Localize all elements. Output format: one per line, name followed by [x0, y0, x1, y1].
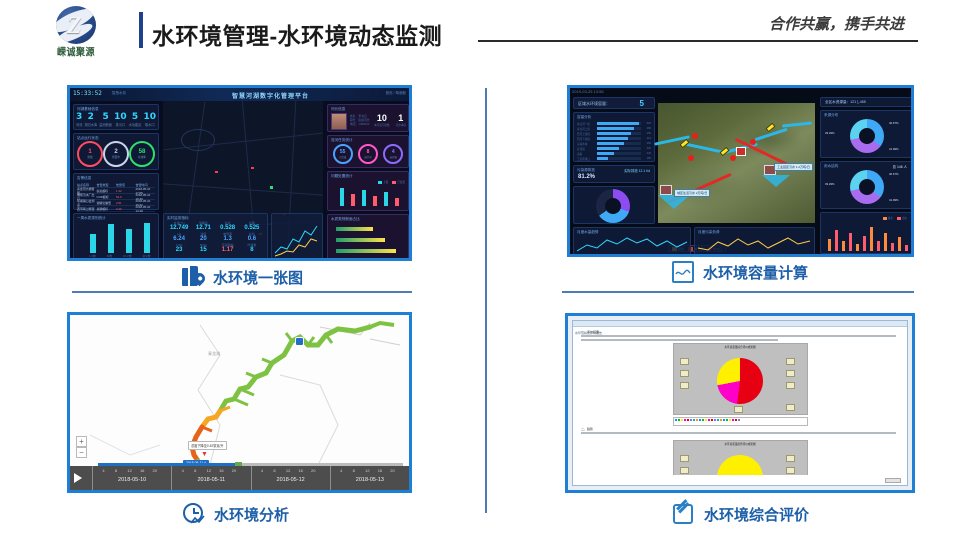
alarm-table[interactable]: 站点名称告警类型告警值告警时间青龙河大桥断面氨氮超标1.322018-05-10… — [77, 182, 155, 212]
indicator-value: 0.528 — [216, 225, 240, 231]
capacity-bar-fill — [597, 147, 619, 150]
bar-item — [849, 233, 852, 251]
dashboard-banner-title: 智慧河湖数字化管理平台 — [232, 91, 309, 100]
timeline-tick: 4 — [102, 468, 104, 473]
kpi-label: 监测断面 — [99, 122, 112, 127]
capacity-list-title: 容量分析 — [577, 115, 591, 120]
dashboard-clock: 15:33:52 — [73, 90, 102, 97]
report-text-line — [581, 335, 896, 337]
report-chart-box: 水环境质量综合评价成果图 — [673, 343, 808, 415]
indicator-value: 6.24 — [167, 236, 191, 242]
timeline-tick: 20 — [232, 468, 236, 473]
report-pie-chart — [717, 455, 763, 475]
report-chart-leader-label — [786, 455, 795, 462]
timeline-segment[interactable]: 481216202018-05-11 — [171, 466, 250, 490]
table-cell: 52.6 — [116, 195, 136, 199]
monthly-bar-panel: 进水出水 — [820, 212, 912, 254]
river-chief-stats: 10本月巡河次数1待办事项 — [374, 113, 406, 127]
table-row[interactable]: 西河闸上断面总磷超标0.462018-05-10 14:18 — [77, 206, 155, 212]
legend-swatch — [717, 419, 719, 421]
legend-swatch — [378, 181, 382, 184]
timeline-ticks: 48121620 — [331, 466, 409, 476]
gauge-row: 1离线2预警中58在线率 — [77, 141, 155, 167]
legend-label: 上报 — [383, 180, 388, 184]
legend-swatch — [723, 419, 725, 421]
indicator-value: 15 — [191, 247, 215, 253]
indicator-panel: 实时监测指标 水温(℃)12.749溶解氧12.71氨氮0.528总磷0.525… — [163, 213, 268, 261]
zoom-in-button[interactable]: + — [76, 436, 87, 447]
kpi-label: 取水口 — [143, 122, 156, 127]
indicator-item: 溶解氧12.71 — [191, 221, 215, 231]
legend-swatch — [708, 419, 710, 421]
donut-slice-label: 33.29% — [825, 131, 835, 135]
discharge-value: 实际排放 12.1 t/d — [624, 168, 650, 173]
caption-label: 水环境一张图 — [213, 267, 303, 288]
legend-swatch — [705, 419, 707, 421]
tooltip-pointer-icon: ▼ — [201, 451, 208, 458]
timeline-tick: 8 — [194, 468, 196, 473]
legend-swatch — [684, 419, 686, 421]
capacity-bar-track — [597, 132, 641, 135]
timeline-segment[interactable]: 481216202018-05-12 — [251, 466, 330, 490]
monitoring-station-marker[interactable] — [295, 337, 304, 346]
logo-company-name: 嵘诚聚源 — [57, 44, 95, 59]
timeline-date-label: 2018-05-10 — [93, 477, 171, 483]
timeline-tick: 4 — [261, 468, 263, 473]
indicator-value: 12.749 — [167, 225, 191, 231]
capacity-item-value: 360 — [643, 142, 651, 145]
usage-donut-badge: 总 146 人 — [893, 164, 907, 169]
ring-item: 4未开始 — [383, 144, 403, 164]
table-cell: 2.81 — [116, 201, 136, 205]
report-chart-title: 水环境质量趋势评价成果图 — [674, 442, 807, 446]
title-rule — [478, 40, 918, 42]
kpi-row: 3河流2湖泊水库5监测断面10排污口5水功能区10取水口 — [76, 112, 156, 127]
bar-item — [905, 245, 908, 251]
header-slogan: 合作共赢，携手共进 — [769, 13, 904, 34]
timeline-bar[interactable]: 481216202018-05-10481216202018-05-114812… — [70, 466, 409, 490]
indicator-item: 水温(℃)12.749 — [167, 221, 191, 231]
horizontal-bar-chart — [336, 227, 404, 260]
monthly-bar-legend: 进水出水 — [883, 216, 907, 220]
alarm-panel-title: 告警信息 — [77, 176, 91, 181]
report-chart-leader-label — [786, 358, 795, 365]
capacity-item-value: 180 — [643, 157, 651, 160]
source-donut-title: 来源分布 — [824, 113, 838, 118]
legend-item: 出水 — [897, 216, 907, 220]
usage-donut-title: 用水结构 — [824, 164, 838, 169]
indicator-item: 氨氮0.528 — [216, 221, 240, 231]
profile-line: 电话：1380000 — [350, 122, 370, 126]
legend-swatch — [720, 419, 722, 421]
indicator-item: COD23 — [167, 243, 191, 253]
capacity-list[interactable]: 青龙河一段520青龙河二段480西河上游段450西河下游段410东湖水域360北… — [577, 121, 651, 161]
bar-item — [898, 237, 901, 251]
screenshot-one-map-dashboard[interactable]: 15:33:52 智慧水务 智慧河湖数字化管理平台 首页 / 驾驶舱 河湖基础信… — [67, 85, 412, 261]
kpi-value: 10 — [114, 112, 127, 122]
gauge-panel: 站点运行状态 1离线2预警中58在线率 — [73, 133, 159, 170]
kpi-item: 10排污口 — [114, 112, 127, 127]
capacity-item-label: 南渠 — [577, 152, 595, 156]
map-callout-industry: 工业园区污水 1.2万吨/日 — [774, 163, 813, 171]
report-window: 水环境综合评价报告 一、评价结果水环境质量综合评价成果图二、趋势水环境质量趋势评… — [572, 320, 908, 486]
indicator-item: BOD15 — [191, 243, 215, 253]
monthly-bar-chart — [825, 227, 909, 251]
legend-swatch — [690, 419, 692, 421]
report-chart-title: 水环境质量综合评价成果图 — [674, 345, 807, 349]
report-body[interactable]: 一、评价结果水环境质量综合评价成果图二、趋势水环境质量趋势评价成果图 — [581, 329, 899, 475]
capacity-top-date: 2019-03-25 13:56 — [572, 89, 604, 94]
gauge-label: 在线率 — [138, 155, 146, 159]
dashboard-top-label: 智慧水务 — [112, 91, 126, 96]
timeline-tick: 16 — [298, 468, 302, 473]
legend-swatch — [699, 419, 701, 421]
capacity-bar-track — [597, 152, 641, 155]
dashboard-top-right: 首页 / 驾驶舱 — [386, 91, 406, 96]
profile-stat-label: 本月巡河次数 — [374, 123, 390, 127]
logo-letter: Z — [67, 13, 82, 40]
table-cell: 0.46 — [116, 207, 136, 211]
table-cell: 氨氮超标 — [97, 189, 117, 193]
bar-item — [828, 239, 831, 251]
timeline-tick: 16 — [219, 468, 223, 473]
capacity-list-item[interactable]: 工业区排口180 — [577, 156, 651, 161]
legend-swatch — [696, 419, 698, 421]
capacity-bar-track — [597, 127, 641, 130]
table-cell: COD超标 — [97, 195, 117, 199]
caption-analysis[interactable]: 水环境分析 — [183, 503, 289, 525]
table-cell: 东湖湖心监测点 — [77, 199, 97, 207]
alarm-panel[interactable]: 告警信息 站点名称告警类型告警值告警时间青龙河大桥断面氨氮超标1.322018-… — [73, 173, 159, 210]
indicator-value: 12.71 — [191, 225, 215, 231]
capacity-donut-panel — [573, 186, 655, 224]
legend-swatch — [681, 419, 683, 421]
bar-item — [891, 243, 894, 251]
table-cell: 总磷超标 — [97, 207, 117, 211]
hbar-title: 水质类别断面占比 — [331, 217, 360, 222]
legend-swatch — [883, 217, 887, 220]
capacity-bar-track — [597, 147, 641, 150]
pencil-box-icon — [673, 503, 695, 525]
screenshot-evaluation-report[interactable]: 水环境综合评价报告 一、评价结果水环境质量综合评价成果图二、趋势水环境质量趋势评… — [565, 313, 915, 493]
legend-swatch — [678, 419, 680, 421]
discharge-title: 污染源排放 — [577, 168, 595, 173]
report-text-line — [581, 432, 896, 434]
indicator-value: 0.6 — [240, 236, 264, 242]
timeline-ticks: 48121620 — [172, 466, 250, 476]
donut-slice-label: 40.67% — [889, 121, 899, 125]
report-chart-leader-label — [786, 382, 795, 389]
bar-item — [856, 244, 859, 251]
bar-item — [362, 190, 366, 206]
patrol-ring-card: 巡河任务统计 55已完成8进行中4未开始 — [327, 135, 409, 168]
donut-slice-label: 33.29% — [825, 182, 835, 186]
report-pie-chart — [717, 358, 763, 404]
title-accent-bar — [139, 12, 143, 48]
bar-item — [835, 230, 838, 251]
issue-bar-chart — [336, 188, 404, 206]
kpi-value: 2 — [84, 112, 97, 122]
report-chart-leader-label — [680, 370, 689, 377]
profile-stat-value: 1 — [396, 113, 406, 123]
timeline-tick: 20 — [311, 468, 315, 473]
timeline-tick: 16 — [140, 468, 144, 473]
timeline-segment[interactable]: 481216202018-05-13 — [330, 466, 409, 490]
trend-chart-right-title: 月度污染负荷 — [698, 230, 720, 235]
kpi-value: 3 — [76, 112, 82, 122]
timeline-ticks: 48121620 — [252, 466, 330, 476]
report-chart-leader-label — [786, 404, 795, 411]
weekly-bar-labels: I-II类III类IV-V类劣V类 — [84, 254, 156, 258]
ring-item: 55已完成 — [333, 144, 353, 164]
divider-horizontal-right — [562, 291, 914, 293]
trend-mini-panel — [271, 213, 323, 261]
legend-swatch — [897, 217, 901, 220]
bar-item — [884, 233, 887, 251]
table-cell: 2018-05-10 14:18 — [136, 205, 156, 213]
patrol-ring-row: 55已完成8进行中4未开始 — [330, 144, 406, 164]
kpi-label: 河流 — [76, 122, 82, 127]
caption-label: 水环境分析 — [214, 504, 289, 525]
capacity-bar-fill — [597, 157, 608, 160]
capacity-item-value: 520 — [643, 122, 651, 125]
kpi-label: 湖泊水库 — [84, 122, 97, 127]
capacity-headline-label: 区域水环境容量： — [578, 101, 610, 107]
bar-item — [126, 229, 132, 253]
capacity-bar-track — [597, 142, 641, 145]
capacity-item-value: 240 — [643, 152, 651, 155]
timeline-tick: 12 — [365, 468, 369, 473]
usage-donut-chart — [850, 170, 884, 204]
report-chart-leader-label — [786, 467, 795, 474]
timeline-tick: 8 — [115, 468, 117, 473]
profile-stat-value: 10 — [374, 113, 390, 123]
gauge-item: 1离线 — [77, 141, 103, 167]
caption-evaluation[interactable]: 水环境综合评价 — [673, 503, 809, 525]
timeline-date-label: 2018-05-12 — [252, 477, 330, 483]
kpi-item: 2湖泊水库 — [84, 112, 97, 127]
legend-item: 进水 — [883, 216, 893, 220]
capacity-item-value: 450 — [643, 132, 651, 135]
capacity-list-panel[interactable]: 容量分析 青龙河一段520青龙河二段480西河上游段450西河下游段410东湖水… — [573, 112, 655, 162]
timeline-tick: 8 — [353, 468, 355, 473]
timeline-segment[interactable]: 481216202018-05-10 — [92, 466, 171, 490]
capacity-item-label: 青龙河一段 — [577, 122, 595, 126]
bar-category-label: IV-V类 — [123, 254, 132, 258]
capacity-bar-fill — [597, 152, 614, 155]
bar-item — [863, 236, 866, 251]
indicator-value: 8 — [240, 247, 264, 253]
screenshot-capacity-dashboard[interactable]: 2019-03-25 13:56 区域水环境容量： 5 容量分析 青龙河一段52… — [567, 85, 914, 257]
indicator-item: 浊度20 — [191, 232, 215, 242]
indicator-value: 1.17 — [216, 247, 240, 253]
kpi-item: 5监测断面 — [99, 112, 112, 127]
issue-bar-title: 问题处置统计 — [331, 174, 353, 179]
bar-category-label: 劣V类 — [143, 254, 151, 258]
ring-label: 已完成 — [339, 155, 346, 159]
donut-slice-label: 41.99% — [889, 198, 899, 202]
capacity-bar-fill — [597, 127, 634, 130]
kpi-value: 10 — [143, 112, 156, 122]
table-cell: 溶解氧偏低 — [97, 201, 117, 205]
legend-swatch — [735, 419, 737, 421]
bar-item — [90, 234, 96, 253]
profile-stat-label: 待办事项 — [396, 123, 406, 127]
divider-horizontal-left — [72, 291, 412, 293]
map-pin-icon — [182, 266, 204, 288]
capacity-headline: 区域水环境容量： 5 — [573, 97, 655, 109]
bar-item — [870, 227, 873, 251]
report-close-button[interactable] — [885, 478, 901, 483]
timeline-tick: 12 — [207, 468, 211, 473]
ring-label: 未开始 — [390, 155, 397, 159]
bar-item — [373, 196, 377, 206]
gauge-item: 58在线率 — [129, 141, 155, 167]
usage-donut-panel: 用水结构 总 146 人 40.67%41.99%33.29% — [820, 161, 912, 209]
timeline-tick: 8 — [273, 468, 275, 473]
indicator-value: 20 — [191, 236, 215, 242]
legend-label: 出水 — [902, 216, 907, 220]
kpi-panel-title: 河湖基础信息 — [77, 107, 99, 112]
donut-slice-label: 40.67% — [889, 172, 899, 176]
report-text-line — [581, 339, 778, 341]
map-zoom-control[interactable]: + − — [76, 436, 87, 458]
capacity-bar-track — [597, 157, 641, 160]
indicator-item: 高锰酸盐1.17 — [216, 243, 240, 253]
report-titlebar: 水环境综合评价报告 — [573, 321, 907, 327]
indicator-item: 叶绿素8 — [240, 243, 264, 253]
bar-category-label: III类 — [107, 254, 113, 258]
kpi-item: 10取水口 — [143, 112, 156, 127]
river-chief-title: 河长信息 — [331, 107, 345, 112]
gauge-panel-title: 站点运行状态 — [77, 136, 99, 141]
legend-label: 进水 — [888, 216, 893, 220]
timeline-ticks: 48121620 — [93, 466, 171, 476]
caption-label: 水环境容量计算 — [703, 262, 808, 283]
kpi-value: 5 — [129, 112, 142, 122]
kpi-label: 排污口 — [114, 122, 127, 127]
ring-item: 8进行中 — [358, 144, 378, 164]
bar-item — [395, 198, 399, 206]
kpi-panel: 河湖基础信息 3河流2湖泊水库5监测断面10排污口5水功能区10取水口 — [73, 104, 159, 130]
report-chart-leader-label — [680, 358, 689, 365]
timeline-tick: 12 — [286, 468, 290, 473]
timeline-play-icon[interactable] — [74, 473, 82, 483]
bar-item — [144, 223, 150, 253]
source-donut-panel: 来源分布 40.67%41.99%33.29% — [820, 110, 912, 158]
capacity-item-label: 东湖水域 — [577, 142, 595, 146]
timeline-date-label: 2018-05-13 — [331, 477, 409, 483]
legend-swatch — [711, 419, 713, 421]
capacity-item-label: 西河下游段 — [577, 137, 595, 141]
capacity-item-label: 青龙河二段 — [577, 127, 595, 131]
capacity-item-label: 北河段 — [577, 147, 595, 151]
legend-swatch — [714, 419, 716, 421]
trend-chart-right: 月度污染负荷 — [694, 227, 815, 255]
report-section-heading: 一、评价结果 — [581, 330, 899, 334]
report-section-heading: 二、趋势 — [581, 427, 899, 431]
weekly-quality-bar-panel: 一周水质类别统计 I-II类III类IV-V类劣V类 — [73, 213, 159, 261]
report-chart-leader-label — [734, 406, 743, 413]
timeline-segments[interactable]: 481216202018-05-10481216202018-05-114812… — [92, 466, 409, 490]
divider-vertical — [485, 88, 487, 513]
legend-swatch — [702, 419, 704, 421]
legend-swatch — [675, 419, 677, 421]
gauge-label: 离线 — [87, 155, 92, 159]
timeline-tick: 20 — [152, 468, 156, 473]
indicator-item: 电导率1.3 — [216, 232, 240, 242]
report-chart-legend — [673, 417, 808, 426]
patrol-ring-title: 巡河任务统计 — [331, 138, 353, 143]
caption-one-map[interactable]: 水环境一张图 — [182, 266, 303, 288]
gauge-label: 预警中 — [112, 155, 120, 159]
caption-label: 水环境综合评价 — [704, 504, 809, 525]
timeline-date-label: 2018-05-11 — [172, 477, 250, 483]
bar-category-label: I-II类 — [89, 254, 96, 258]
source-donut-chart — [850, 119, 884, 153]
issue-bar-card: 问题处置统计 上报已处置 — [327, 171, 409, 211]
legend-swatch — [726, 419, 728, 421]
caption-capacity[interactable]: 水环境容量计算 — [672, 261, 808, 283]
capacity-item-label: 西河上游段 — [577, 132, 595, 136]
capacity-item-value: 300 — [643, 147, 651, 150]
page-header: Z 嵘诚聚源 水环境管理-水环境动态监测 合作共赢，携手共进 — [0, 0, 962, 62]
water-resource-title: 全区水资源量：121し455 — [825, 100, 866, 105]
hbar-item — [336, 249, 396, 253]
capacity-item-label: 工业区排口 — [577, 157, 595, 161]
timeline-tick: 20 — [390, 468, 394, 473]
satellite-map[interactable]: 城区生活污水 2万吨/日 工业园区污水 1.2万吨/日 — [658, 103, 815, 223]
page-title: 水环境管理-水环境动态监测 — [152, 17, 442, 51]
bar-item — [351, 194, 355, 206]
indicator-value: 0.525 — [240, 225, 264, 231]
zoom-out-button[interactable]: − — [76, 447, 87, 458]
discharge-panel: 污染源排放 实际排放 12.1 t/d 81.2% — [573, 165, 655, 183]
capacity-item-value: 480 — [643, 127, 651, 130]
logo-mark-icon: Z — [56, 6, 96, 44]
report-chart-leader-label — [680, 455, 689, 462]
issue-bar-legend: 上报已处置 — [378, 180, 405, 184]
capacity-item-value: 410 — [643, 137, 651, 140]
trend-chart-left: 月度水量趋势 — [573, 227, 691, 255]
bar-item — [108, 224, 114, 253]
profile-stat: 10本月巡河次数 — [374, 113, 390, 127]
legend-swatch — [687, 419, 689, 421]
report-chart-leader-label — [786, 370, 795, 377]
indicator-value: 23 — [167, 247, 191, 253]
trend-chart-left-title: 月度水量趋势 — [577, 230, 599, 235]
bar-item — [384, 192, 388, 206]
timeline-tick: 16 — [378, 468, 382, 473]
legend-swatch — [729, 419, 731, 421]
profile-stat: 1待办事项 — [396, 113, 406, 127]
capacity-bar-fill — [597, 142, 624, 145]
kpi-label: 水功能区 — [129, 122, 142, 127]
donut-slice-label: 41.99% — [889, 147, 899, 151]
bar-item — [340, 188, 344, 206]
hbar-item — [336, 238, 385, 242]
indicator-value: 1.3 — [216, 236, 240, 242]
weekly-bar-chart — [84, 223, 156, 253]
capacity-donut-chart — [596, 189, 630, 223]
table-header-cell: 告警值 — [116, 183, 136, 187]
table-cell: 1.32 — [116, 189, 136, 193]
timeline-tick: 12 — [127, 468, 131, 473]
legend-swatch — [392, 181, 396, 184]
indicator-item: 总磷0.525 — [240, 221, 264, 231]
legend-swatch — [732, 419, 734, 421]
screenshot-analysis-map[interactable]: 青龙湖 + − 浓度下降至0.52毫克/升 ▼ 2018-05-11 4 481… — [67, 312, 412, 493]
